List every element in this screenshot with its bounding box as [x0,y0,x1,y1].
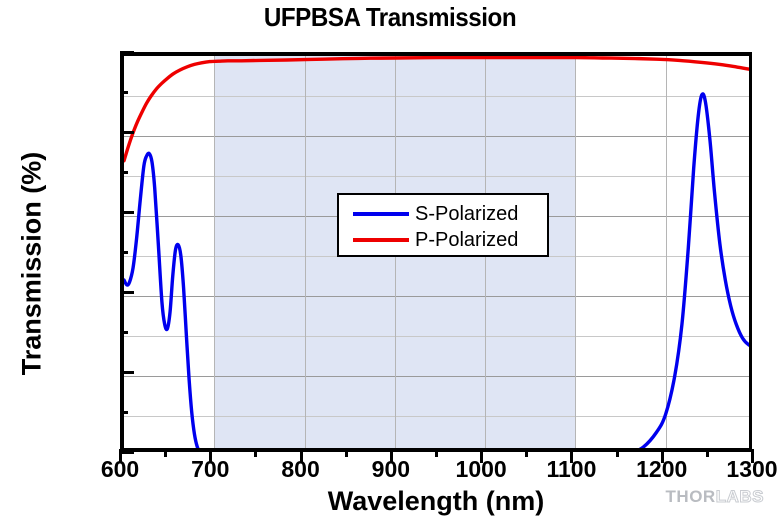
y-axis-label: Transmission (%) [17,64,48,464]
y-tick [120,291,134,294]
legend-label-p-polarized: P-Polarized [415,230,518,250]
y-tick [120,371,134,374]
legend-item-s-polarized: S-Polarized [339,201,547,227]
y-tick [120,411,128,414]
curve-p-polarized [124,58,749,161]
x-axis-label: Wavelength (nm) [120,486,752,517]
y-tick [120,211,134,214]
y-tick [120,171,128,174]
y-tick [120,251,128,254]
curve-s-polarized [124,94,749,448]
thorlabs-watermark: THORLABS [666,487,764,507]
chart-figure: UFPBSA Transmission Transmission (%) Wav… [0,0,780,527]
legend-swatch-p-polarized [353,238,409,242]
y-tick [120,451,134,454]
y-tick [120,91,128,94]
watermark-thor: THOR [666,487,716,506]
x-tick-label: 1300 [692,456,780,483]
y-tick [120,131,134,134]
legend-swatch-s-polarized [353,212,409,216]
y-tick [120,331,128,334]
watermark-labs: LABS [716,487,764,506]
chart-title: UFPBSA Transmission [27,2,752,33]
legend-label-s-polarized: S-Polarized [415,204,518,224]
legend-item-p-polarized: P-Polarized [339,227,547,253]
y-tick [120,51,134,54]
chart-legend: S-Polarized P-Polarized [337,193,549,257]
